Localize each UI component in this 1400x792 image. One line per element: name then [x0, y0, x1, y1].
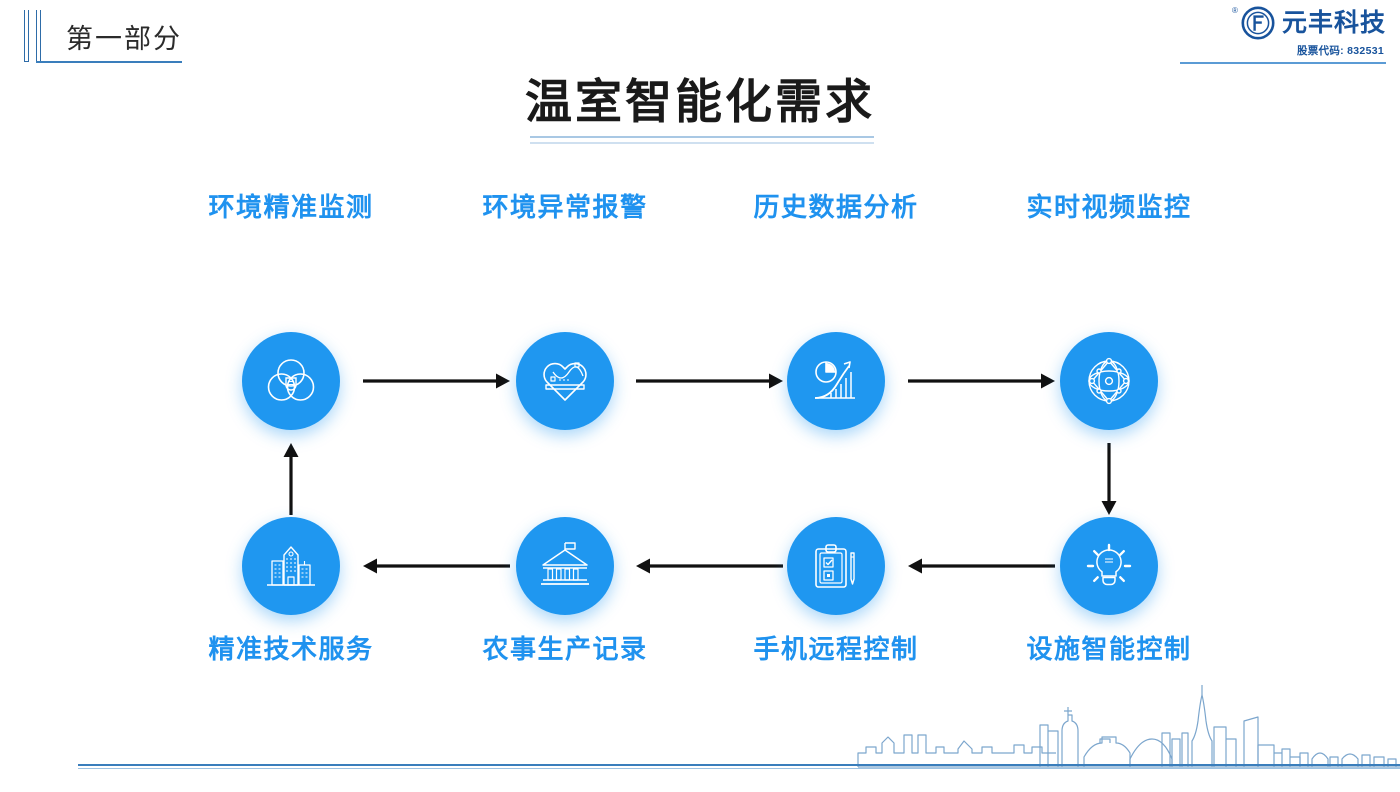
- arrow-n4-to-n5: [1100, 443, 1118, 515]
- flow-node-farming-records[interactable]: 农事生产记录: [516, 517, 614, 615]
- flow-node-technical-service[interactable]: 精准技术服务: [242, 517, 340, 615]
- company-logo: 元丰科技 ® 股票代码: 832531: [1196, 6, 1386, 60]
- flow-node-label: 环境精准监测: [141, 187, 441, 224]
- footer-rule-light: [78, 768, 1400, 769]
- header-divider: [36, 61, 182, 63]
- logo-divider: [1180, 62, 1386, 64]
- title-block: 温室智能化需求: [0, 74, 1400, 129]
- heart-alert-icon: [516, 332, 614, 430]
- title-underline-thin: [530, 142, 874, 144]
- stock-code: 股票代码: 832531: [1297, 43, 1384, 58]
- circled-f-logo-icon: [1241, 6, 1275, 40]
- page-title: 温室智能化需求: [0, 74, 1400, 129]
- double-bar-marker-icon: [24, 10, 46, 62]
- arrow-n3-to-n4: [908, 372, 1055, 390]
- flow-node-history-analysis[interactable]: 历史数据分析: [787, 332, 885, 430]
- flow-node-anomaly-alert[interactable]: 环境异常报警: [516, 332, 614, 430]
- arrow-n8-to-n1: [282, 443, 300, 515]
- flow-node-label: 精准技术服务: [141, 629, 441, 666]
- chart-growth-icon: [787, 332, 885, 430]
- globe-network-icon: [1060, 332, 1158, 430]
- flow-node-label: 历史数据分析: [686, 187, 986, 224]
- city-skyline-icon: [0, 677, 1400, 787]
- arrow-n1-to-n2: [363, 372, 510, 390]
- registered-trademark-icon: ®: [1232, 6, 1238, 15]
- flow-node-label: 手机远程控制: [686, 629, 986, 666]
- flow-node-label: 农事生产记录: [415, 629, 715, 666]
- flow-node-smart-facility-control[interactable]: 设施智能控制: [1060, 517, 1158, 615]
- arrow-n2-to-n3: [636, 372, 783, 390]
- arrow-n5-to-n6: [908, 557, 1055, 575]
- footer-decoration: [0, 677, 1400, 787]
- arrow-n7-to-n8: [363, 557, 510, 575]
- city-buildings-icon: [242, 517, 340, 615]
- flow-node-environment-monitoring[interactable]: 环境精准监测: [242, 332, 340, 430]
- arrow-n6-to-n7: [636, 557, 783, 575]
- flow-node-label: 环境异常报警: [415, 187, 715, 224]
- government-building-icon: [516, 517, 614, 615]
- footer-rule: [78, 764, 1400, 766]
- lightbulb-gear-icon: [1060, 517, 1158, 615]
- company-name: 元丰科技: [1282, 11, 1386, 36]
- flow-node-live-video[interactable]: 实时视频监控: [1060, 332, 1158, 430]
- flow-node-label: 设施智能控制: [959, 629, 1259, 666]
- slide-header: 第一部分 元丰科技 ® 股票代码: 832531: [0, 0, 1400, 70]
- title-underline-thick: [530, 136, 874, 138]
- venn-diagram-icon: [242, 332, 340, 430]
- clipboard-checklist-icon: [787, 517, 885, 615]
- flow-node-mobile-remote-control[interactable]: 手机远程控制: [787, 517, 885, 615]
- section-label: 第一部分: [66, 17, 182, 56]
- flow-node-label: 实时视频监控: [959, 187, 1259, 224]
